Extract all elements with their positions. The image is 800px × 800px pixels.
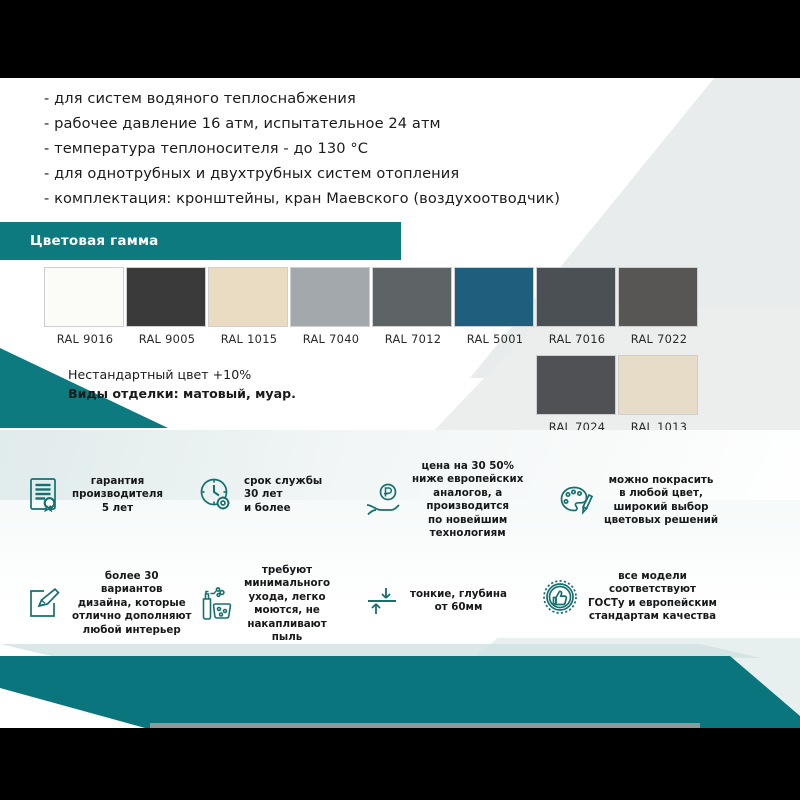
color-note: Нестандартный цвет +10% Виды отделки: ма… xyxy=(68,365,296,403)
feature-line: стандартам качества xyxy=(589,610,716,622)
feature-line: 30 лет xyxy=(244,488,282,500)
feature-text: все модели соответствуют ГОСТу и европей… xyxy=(588,570,717,624)
feature-item: гарантия производителя 5 лет xyxy=(24,474,163,516)
footer-highlight-band xyxy=(0,644,760,658)
specs-list-items: для систем водяного теплоснабжения рабоч… xyxy=(44,86,644,211)
feature-item: срок службы 30 лет и более xyxy=(196,474,322,516)
feature-item: требуют минимального ухода, легко моются… xyxy=(196,564,330,644)
swatch-label: RAL 9005 xyxy=(126,332,208,346)
spray-sponge-icon xyxy=(196,583,236,625)
swatch-chip xyxy=(126,267,206,327)
spec-item: для систем водяного теплоснабжения xyxy=(44,86,644,111)
palette-brush-icon xyxy=(556,480,596,522)
footer-teal-band xyxy=(0,656,800,728)
feature-line: моются, не xyxy=(254,604,320,616)
color-swatch[interactable]: RAL 9016 xyxy=(44,267,126,346)
feature-item: тонкие, глубина от 60мм xyxy=(362,580,507,622)
hand-ruble-icon xyxy=(364,479,404,521)
feature-line: отлично дополняют xyxy=(72,610,191,622)
features-section: гарантия производителя 5 лет xyxy=(0,458,800,658)
spec-item: температура теплоносителя - до 130 °C xyxy=(44,136,644,161)
color-swatch[interactable]: RAL 9005 xyxy=(126,267,208,346)
feature-text: можно покрасить в любой цвет, широкий вы… xyxy=(604,474,718,528)
swatch-label: RAL 5001 xyxy=(454,332,536,346)
color-swatch[interactable]: RAL 1015 xyxy=(208,267,290,346)
clock-gear-icon xyxy=(196,474,236,516)
swatch-chip xyxy=(536,267,616,327)
color-swatch[interactable]: RAL 1013 xyxy=(618,355,700,434)
feature-line: ниже европейских xyxy=(412,473,523,485)
feature-text: срок службы 30 лет и более xyxy=(244,475,322,515)
swatch-chip xyxy=(618,355,698,415)
feature-line: технологиям xyxy=(430,527,506,539)
feature-line: 5 лет xyxy=(102,502,133,514)
color-swatch[interactable]: RAL 7022 xyxy=(618,267,700,346)
swatch-label: RAL 7040 xyxy=(290,332,372,346)
feature-line: широкий выбор xyxy=(613,501,708,513)
swatch-chip xyxy=(208,267,288,327)
content-canvas: для систем водяного теплоснабжения рабоч… xyxy=(0,78,800,728)
feature-line: дизайна, которые xyxy=(78,597,186,609)
color-section-title: Цветовая гамма xyxy=(30,233,159,249)
swatch-chip xyxy=(44,267,124,327)
feature-line: цена на 30 50% xyxy=(421,460,513,472)
swatch-label: RAL 7012 xyxy=(372,332,454,346)
certificate-icon xyxy=(24,474,64,516)
feature-line: аналогов, а xyxy=(433,487,502,499)
color-swatch[interactable]: RAL 5001 xyxy=(454,267,536,346)
color-section-band: Цветовая гамма xyxy=(0,222,401,260)
feature-text: тонкие, глубина от 60мм xyxy=(410,588,507,615)
feature-line: пыль xyxy=(272,631,302,643)
color-swatch[interactable]: RAL 7012 xyxy=(372,267,454,346)
pencil-design-icon xyxy=(24,583,64,625)
feature-text: требуют минимального ухода, легко моются… xyxy=(244,564,330,644)
feature-text: более 30 вариантов дизайна, которые отли… xyxy=(72,570,191,637)
feature-text: гарантия производителя 5 лет xyxy=(72,475,163,515)
feature-line: гарантия xyxy=(91,475,145,487)
color-swatch[interactable]: RAL 7040 xyxy=(290,267,372,346)
spec-item: для однотрубных и двухтрубных систем ото… xyxy=(44,161,644,186)
feature-line: ГОСТу и европейским xyxy=(588,597,717,609)
feature-line: ухода, легко xyxy=(248,591,325,603)
feature-item: можно покрасить в любой цвет, широкий вы… xyxy=(556,474,718,528)
feature-line: срок службы xyxy=(244,475,322,487)
feature-line: цветовых решений xyxy=(604,514,718,526)
color-swatch[interactable]: RAL 7024 xyxy=(536,355,618,434)
depth-arrows-icon xyxy=(362,580,402,622)
feature-item: все модели соответствуют ГОСТу и европей… xyxy=(540,570,717,624)
swatch-chip xyxy=(372,267,452,327)
feature-item: более 30 вариантов дизайна, которые отли… xyxy=(24,570,191,637)
feature-line: от 60мм xyxy=(435,601,483,613)
feature-line: тонкие, глубина xyxy=(410,588,507,600)
feature-line: все модели xyxy=(618,570,687,582)
feature-line: накапливают xyxy=(247,618,326,630)
feature-line: вариантов xyxy=(101,583,163,595)
spec-item: комплектация: кронштейны, кран Маевского… xyxy=(44,186,644,211)
features-row-1: гарантия производителя 5 лет xyxy=(0,458,800,558)
slide-page: для систем водяного теплоснабжения рабоч… xyxy=(0,0,800,800)
feature-line: производится xyxy=(426,500,509,512)
swatch-label: RAL 9016 xyxy=(44,332,126,346)
color-note-line-2: Виды отделки: матовый, муар. xyxy=(68,386,296,401)
color-note-line-1: Нестандартный цвет +10% xyxy=(68,365,296,384)
feature-line: производителя xyxy=(72,488,163,500)
feature-line: более 30 xyxy=(105,570,159,582)
swatch-label: RAL 7016 xyxy=(536,332,618,346)
feature-line: и более xyxy=(244,502,291,514)
feature-item: цена на 30 50% ниже европейских аналогов… xyxy=(364,460,523,540)
swatch-chip xyxy=(290,267,370,327)
color-swatch[interactable]: RAL 7016 xyxy=(536,267,618,346)
feature-line: в любой цвет, xyxy=(619,487,703,499)
features-row-2: более 30 вариантов дизайна, которые отли… xyxy=(0,558,800,658)
swatch-chip xyxy=(618,267,698,327)
feature-line: минимального xyxy=(244,577,330,589)
feature-line: требуют xyxy=(262,564,312,576)
swatch-label: RAL 1015 xyxy=(208,332,290,346)
feature-line: по новейшим xyxy=(428,514,507,526)
feature-text: цена на 30 50% ниже европейских аналогов… xyxy=(412,460,523,540)
feature-line: соответствуют xyxy=(609,583,696,595)
swatch-chip xyxy=(536,355,616,415)
color-swatch-row-1: RAL 9016 RAL 9005 RAL 1015 RAL 7040 RAL … xyxy=(0,267,800,357)
specs-list: для систем водяного теплоснабжения рабоч… xyxy=(44,86,644,211)
quality-badge-icon xyxy=(540,576,580,618)
swatch-chip xyxy=(454,267,534,327)
feature-line: любой интерьер xyxy=(83,624,181,636)
footer-shadow-strip xyxy=(150,723,700,728)
swatch-label: RAL 7022 xyxy=(618,332,700,346)
feature-line: можно покрасить xyxy=(609,474,714,486)
spec-item: рабочее давление 16 атм, испытательное 2… xyxy=(44,111,644,136)
